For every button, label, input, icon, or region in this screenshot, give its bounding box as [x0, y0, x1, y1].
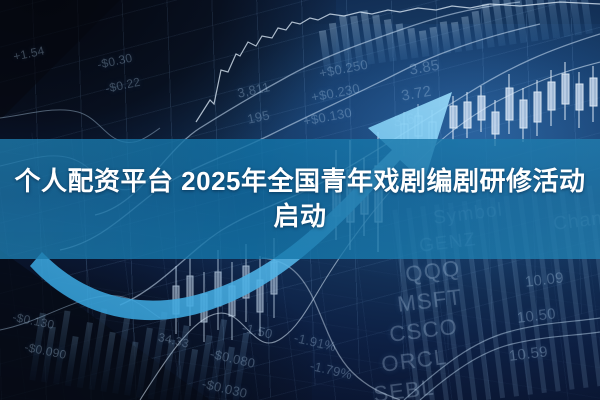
banner-image: SymbolChanGENZQQQMSFTCSCOORCLSEBL+$0.250… [0, 0, 600, 400]
headline-line-2: 启动 [273, 202, 326, 231]
headline-block: 个人配资平台 2025年全国青年戏剧编剧研修活动 启动 [0, 139, 600, 259]
headline-line-1: 个人配资平台 2025年全国青年戏剧编剧研修活动 [14, 167, 585, 196]
